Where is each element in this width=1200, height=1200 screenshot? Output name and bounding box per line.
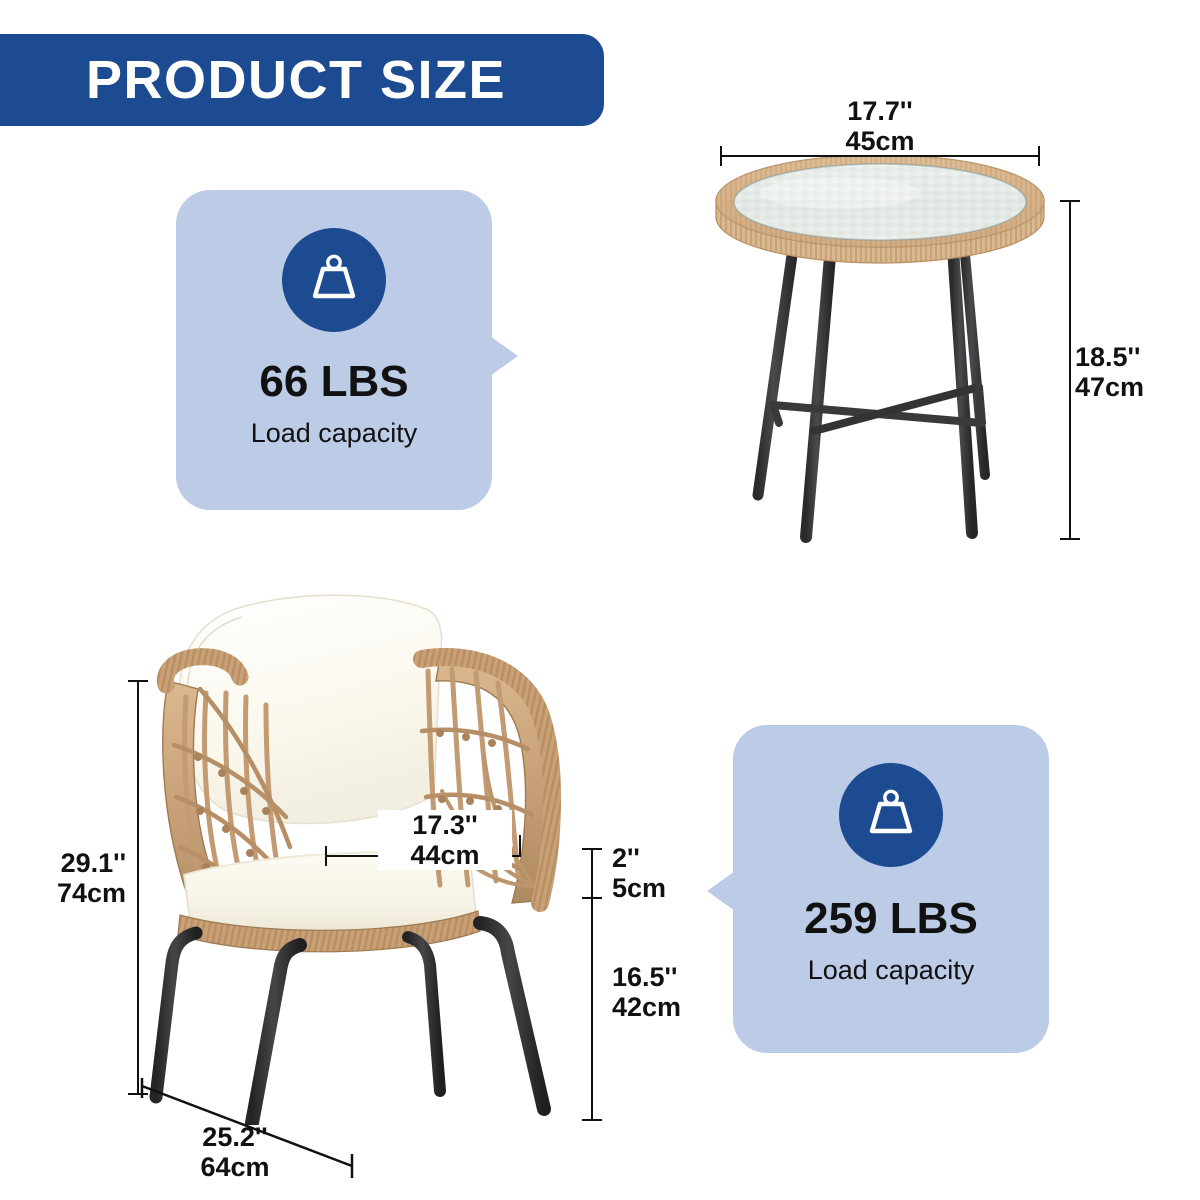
table-height-cap-bottom <box>1060 538 1080 540</box>
chair-depth-inches: 25.2'' <box>202 1122 267 1152</box>
chair-cushion-cap-top <box>582 848 602 850</box>
chair-depth-cm: 64cm <box>200 1152 269 1182</box>
table-height-cap-top <box>1060 200 1080 202</box>
table-width-label: 17.7'' 45cm <box>800 96 960 156</box>
infographic-root: PRODUCT SIZE <box>0 0 1200 1200</box>
weight-icon <box>303 249 365 311</box>
table-width-cap-right <box>1038 146 1040 166</box>
weight-icon <box>860 784 922 846</box>
chair-seat-height-inches: 16.5'' <box>612 962 677 992</box>
chair-cushion-thickness-label: 2'' 5cm <box>612 843 722 903</box>
badge-caption: Load capacity <box>251 420 418 447</box>
chair-depth-label: 25.2'' 64cm <box>155 1122 315 1182</box>
chair-height-cm: 74cm <box>57 878 126 908</box>
badge-icon-circle <box>282 228 386 332</box>
chair-height-cap-top <box>128 680 148 682</box>
table-height-label: 18.5'' 47cm <box>1075 342 1185 402</box>
table-width-cap-left <box>720 146 722 166</box>
chair-height-inches: 29.1'' <box>61 848 126 878</box>
badge-tail-right <box>490 336 518 376</box>
badge-chair-load-capacity: 259 LBS Load capacity <box>733 725 1049 1053</box>
chair-seat-width-cap-right <box>519 835 521 857</box>
chair-seat-height-label: 16.5'' 42cm <box>612 962 742 1022</box>
badge-value: 66 LBS <box>259 360 408 404</box>
badge-table-load-capacity: 66 LBS Load capacity <box>176 190 492 510</box>
table-height-cm: 47cm <box>1075 372 1144 402</box>
badge-icon-circle <box>839 763 943 867</box>
chair-seat-width-inches: 17.3'' <box>412 810 477 840</box>
table-width-cm: 45cm <box>845 126 914 156</box>
chair-height-dimension-line <box>137 680 139 1095</box>
table-width-inches: 17.7'' <box>847 96 912 126</box>
chair-seat-width-cap-left <box>325 846 327 866</box>
table-illustration <box>700 155 1080 565</box>
chair-seat-height-cm: 42cm <box>612 992 681 1022</box>
chair-seat-width-cm: 44cm <box>410 840 479 870</box>
page-title: PRODUCT SIZE <box>86 53 506 107</box>
badge-tail-left <box>707 871 735 911</box>
chair-height-label: 29.1'' 74cm <box>0 848 126 908</box>
table-height-inches: 18.5'' <box>1075 342 1140 372</box>
chair-cushion-inches: 2'' <box>612 843 640 873</box>
chair-seat-width-label: 17.3'' 44cm <box>378 810 512 870</box>
badge-caption: Load capacity <box>808 957 975 984</box>
chair-seat-height-dimension-line <box>591 899 593 1121</box>
chair-seat-height-cap-bottom <box>582 1119 602 1121</box>
badge-value: 259 LBS <box>804 897 978 941</box>
chair-cushion-cm: 5cm <box>612 873 666 903</box>
table-height-dimension-line <box>1069 200 1071 540</box>
chair-cushion-thickness-dimension-line <box>591 848 593 899</box>
header-banner: PRODUCT SIZE <box>0 34 604 126</box>
